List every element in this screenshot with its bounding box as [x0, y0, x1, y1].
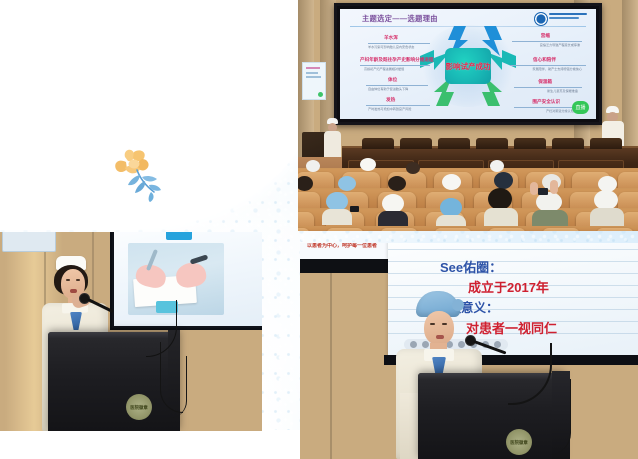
- cap-knot: [452, 299, 464, 311]
- nurse-mouth: [436, 335, 444, 339]
- slide-surface: [114, 232, 262, 326]
- diagram-note-left-4: 产时发热可增加中转剖宫产风险: [368, 106, 411, 111]
- head-table-chair: [438, 138, 470, 149]
- corner-monitor: [2, 232, 56, 252]
- live-stream-badge: 直播: [572, 101, 589, 114]
- nurse-face: [424, 311, 454, 345]
- secondary-screen-frame: [300, 259, 388, 273]
- audience-person: [298, 176, 316, 198]
- projection-screen: 主题选定——选题理由: [334, 3, 602, 125]
- podium-emblem: 医院徽章: [506, 429, 532, 455]
- audience-phone: [350, 206, 359, 212]
- nurse-eye: [430, 323, 435, 325]
- secondary-screen-text: 以患者为中心，呵护每一位患者: [307, 243, 377, 249]
- side-monitor: [302, 62, 326, 100]
- audience-person: [326, 192, 352, 222]
- nurse-eye: [66, 279, 70, 281]
- diagram-note-right-3: 新生儿复苏及保暖准备: [547, 88, 578, 93]
- diagram-center-label: 影响试产成功: [446, 62, 491, 71]
- slide-photo-hand: [174, 261, 208, 290]
- audience-raised-hand: [550, 180, 558, 194]
- flower-sprig-decoration: [104, 146, 166, 202]
- diagram-note-right-2: 家属陪伴、助产士支持增强分娩信心: [533, 66, 583, 71]
- hospital-logo-wordmark: [549, 13, 587, 20]
- slide-header-bar: [166, 232, 192, 240]
- head-table-chair: [552, 138, 584, 149]
- diagram-label-left-2: 产妇年龄及既往孕产史影响分娩进程: [360, 57, 434, 63]
- slide-photo-instrument: [190, 254, 209, 264]
- diagram-label-right-1: 宫缩: [541, 33, 550, 39]
- audience-person: [440, 198, 466, 228]
- diagram-note-left-2: 高龄初产妇产程进展相对缓慢: [364, 66, 404, 71]
- photo-nurse-at-podium: 医院徽章: [0, 232, 262, 431]
- head-table-chair: [476, 138, 508, 149]
- diagram-note-left-1: 羊水污染可影响胎儿宫内安危状态: [368, 44, 414, 49]
- hospital-logo-mark: [534, 12, 548, 26]
- audience-person: [442, 174, 464, 198]
- audience-raised-hand: [530, 182, 538, 195]
- audience-person: [360, 158, 378, 178]
- podium-cable: [546, 379, 571, 455]
- head-table-chair: [590, 138, 622, 149]
- nurse-eye: [442, 323, 447, 325]
- flower-icon: [104, 146, 166, 202]
- hospital-logo: [534, 12, 590, 25]
- diagram-center-node: 影响试产成功: [445, 48, 491, 84]
- head-table-chair: [514, 138, 546, 149]
- diagram-note-left-3: 自由体位有助于促进胎头下降: [368, 86, 408, 91]
- photo-auditorium-presentation: 主题选定——选题理由: [298, 0, 638, 231]
- podium-emblem: 医院徽章: [126, 394, 152, 420]
- audience-person: [594, 190, 622, 224]
- nurse-eye: [76, 279, 80, 281]
- head-table-chair: [362, 138, 394, 149]
- diagram-label-left-1: 羊水浑: [384, 35, 398, 41]
- audience-person: [406, 162, 422, 180]
- audience-seat-row: [298, 226, 638, 231]
- diagram-label-right-4: 围产安全认识: [532, 99, 560, 105]
- slide-surface: 主题选定——选题理由: [340, 9, 596, 119]
- diagram-note-right-1: 宫缩乏力导致产程延长或停滞: [540, 42, 580, 47]
- photo-collage: 主题选定——选题理由: [0, 0, 638, 459]
- diagram-label-left-3: 体位: [388, 77, 397, 83]
- diagram-label-left-4: 发热: [386, 97, 395, 103]
- diagram-label-right-2: 信心和陪伴: [533, 57, 556, 63]
- wall-seam: [330, 243, 332, 459]
- audience-person: [536, 192, 566, 226]
- audience-person: [488, 188, 516, 224]
- audience-phone: [538, 188, 548, 195]
- nurse-mouth: [70, 289, 77, 293]
- projection-screen: [110, 232, 262, 330]
- audience-person: [382, 194, 408, 224]
- diagram-label-right-3: 保温箱: [538, 79, 552, 85]
- slide-line-1: See佑圈：: [440, 257, 502, 276]
- photo-nurse-blue-cap-podium: 以患者为中心，呵护每一位患者 See佑圈： 成立于2017年 圈徽意义： 对患者…: [300, 243, 638, 459]
- head-table-chair: [400, 138, 432, 149]
- podium-cable: [170, 356, 187, 418]
